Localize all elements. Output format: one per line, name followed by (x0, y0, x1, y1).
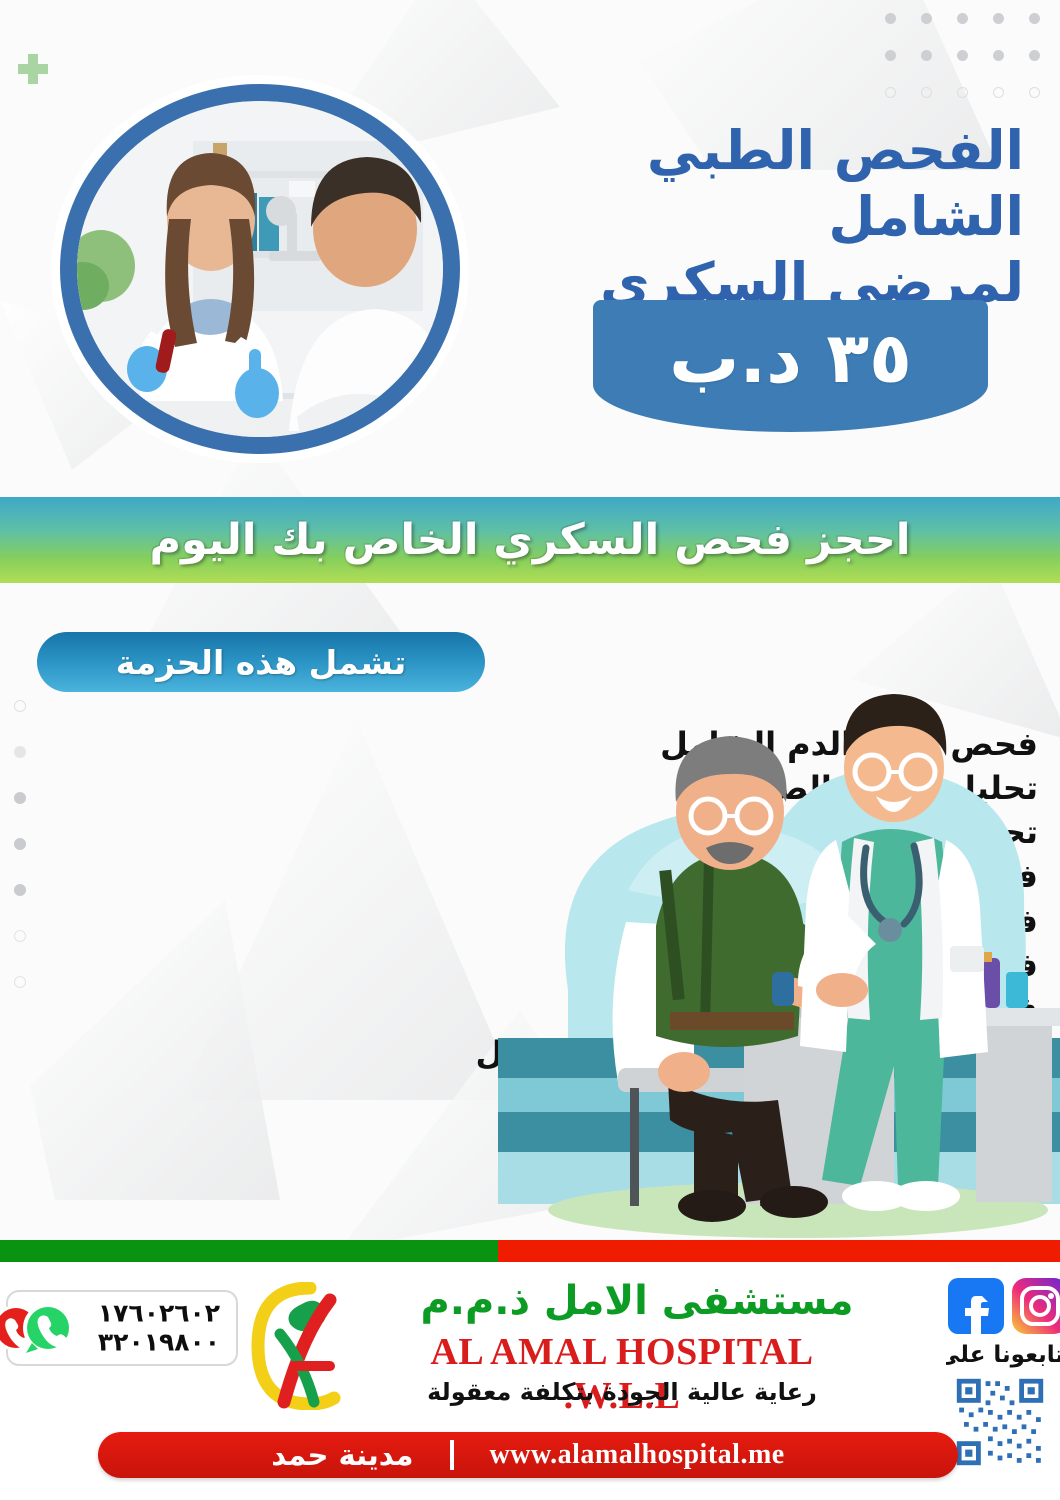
hospital-logo: مستشفى الامل ذ.م.م AL AMAL HOSPITAL W.L.… (238, 1274, 878, 1424)
dot-column-decoration (14, 700, 26, 1022)
tricolor-divider (0, 1240, 1060, 1262)
logo-tagline: رعاية عالية الجودة بتكلفة معقولة (372, 1378, 872, 1406)
cta-banner: احجز فحص السكري الخاص بك اليوم (0, 497, 1060, 583)
phone-contact-box[interactable]: ١٧٦٠٢٦٠٢ ٣٢٠١٩٨٠٠ (6, 1290, 238, 1366)
page-title: الفحص الطبي الشامل لمرضى السكري (444, 118, 1024, 316)
phone-number-1: ١٧٦٠٢٦٠٢ (98, 1299, 220, 1328)
poster-root: الفحص الطبي الشامل لمرضى السكري ٣٥ د.ب ا… (0, 0, 1060, 1500)
logo-arabic-name: مستشفى الامل ذ.م.م (402, 1278, 872, 1324)
phone-number-2: ٣٢٠١٩٨٠٠ (98, 1328, 220, 1357)
package-badge: تشمل هذه الحزمة (37, 632, 485, 692)
clinic-photo-illustration (77, 101, 443, 437)
phone-numbers: ١٧٦٠٢٦٠٢ ٣٢٠١٩٨٠٠ (98, 1299, 220, 1357)
logo-mark-icon (250, 1282, 370, 1410)
social-media-block: تابعونا على (946, 1268, 1060, 1498)
website-bar[interactable]: www.alamalhospital.me مدينة حمد (98, 1432, 958, 1478)
blood-draw-illustration (498, 690, 1060, 1242)
whatsapp-and-phone-icons[interactable] (0, 1299, 84, 1357)
headline-line-1: الفحص الطبي الشامل (444, 118, 1024, 250)
social-network-icons[interactable] (946, 1276, 1060, 1338)
website-url[interactable]: www.alamalhospital.me (490, 1439, 785, 1471)
qr-code[interactable] (952, 1374, 1048, 1470)
separator (450, 1440, 454, 1470)
cta-banner-text: احجز فحص السكري الخاص بك اليوم (150, 515, 911, 565)
price-badge: ٣٥ د.ب (593, 300, 988, 432)
social-follow-label: تابعونا على (946, 1342, 1060, 1368)
hero-section: الفحص الطبي الشامل لمرضى السكري ٣٥ د.ب (0, 0, 1060, 490)
hero-photo (60, 84, 460, 454)
city-label: مدينة حمد (271, 1438, 413, 1472)
